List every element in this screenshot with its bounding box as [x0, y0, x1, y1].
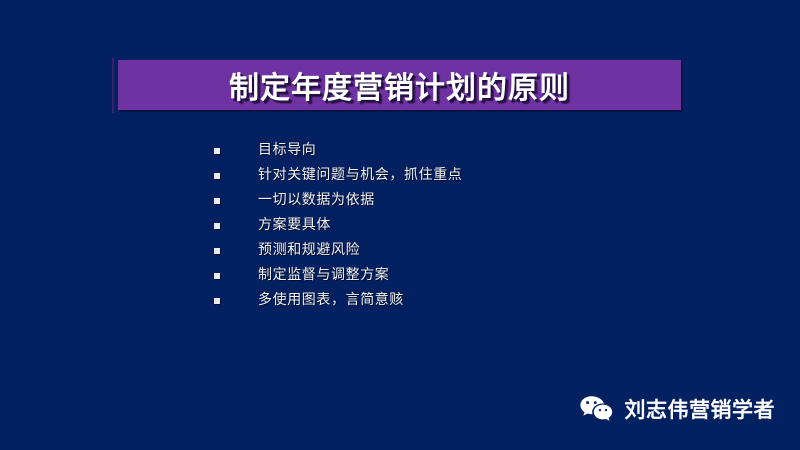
list-item: 制定监督与调整方案 — [214, 263, 734, 288]
list-item-label: 一切以数据为依据 — [258, 188, 734, 213]
square-bullet-icon — [214, 248, 220, 254]
title-accent-line — [112, 57, 114, 113]
list-item: 方案要具体 — [214, 213, 734, 238]
list-item: 目标导向 — [214, 138, 734, 163]
square-bullet-icon — [214, 223, 220, 229]
list-item: 一切以数据为依据 — [214, 188, 734, 213]
slide-canvas: 制定年度营销计划的原则 目标导向 针对关键问题与机会，抓住重点 一切以数据为依据… — [0, 0, 800, 450]
list-item: 预测和规避风险 — [214, 238, 734, 263]
page-title: 制定年度营销计划的原则 — [118, 60, 681, 110]
list-item-label: 制定监督与调整方案 — [258, 263, 734, 288]
wechat-icon — [579, 394, 613, 424]
square-bullet-icon — [214, 273, 220, 279]
square-bullet-icon — [214, 148, 220, 154]
list-item-label: 预测和规避风险 — [258, 238, 734, 263]
list-item: 多使用图表，言简意赅 — [214, 288, 734, 313]
square-bullet-icon — [214, 298, 220, 304]
list-item-label: 目标导向 — [258, 138, 734, 163]
bullet-list: 目标导向 针对关键问题与机会，抓住重点 一切以数据为依据 方案要具体 预测和规避… — [214, 138, 734, 313]
list-item-label: 针对关键问题与机会，抓住重点 — [258, 163, 734, 188]
square-bullet-icon — [214, 198, 220, 204]
list-item-label: 多使用图表，言简意赅 — [258, 288, 734, 313]
list-item: 针对关键问题与机会，抓住重点 — [214, 163, 734, 188]
square-bullet-icon — [214, 173, 220, 179]
list-item-label: 方案要具体 — [258, 213, 734, 238]
footer-brand: 刘志伟营销学者 — [579, 394, 776, 424]
footer-brand-name: 刘志伟营销学者 — [625, 394, 776, 424]
